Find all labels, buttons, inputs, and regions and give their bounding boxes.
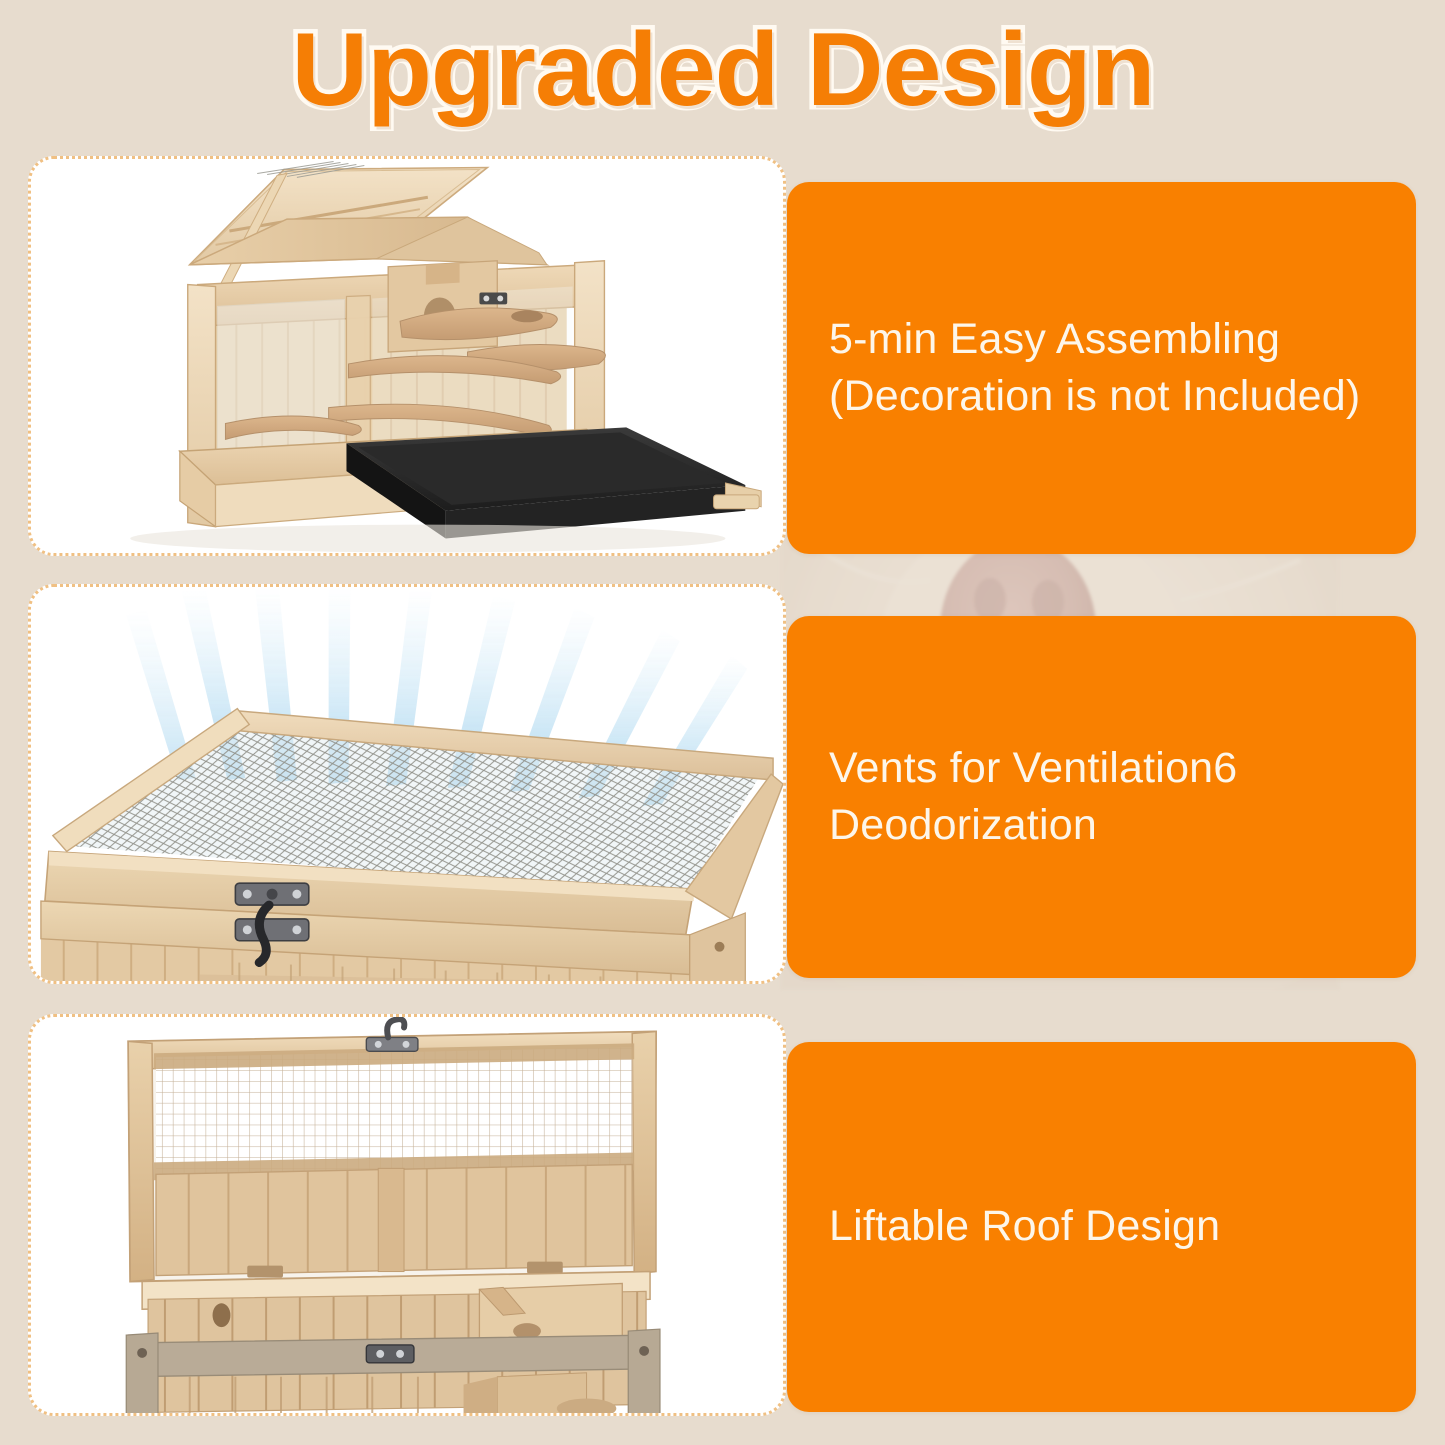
feature-photo-card-1 [28,156,786,556]
infographic-page: Upgraded Design [0,0,1445,1445]
feature-text-3: Liftable Roof Design [787,1198,1260,1255]
feature-text-1: 5-min Easy Assembling (Decoration is not… [787,311,1416,425]
page-title: Upgraded Design [291,16,1154,125]
page-title-container: Upgraded Design [0,16,1445,125]
feature-text-2: Vents for Ventilation6 Deodorization [787,740,1416,854]
feature-text-panel-3: Liftable Roof Design [787,1042,1416,1412]
liftable-roof-illustration [31,1017,783,1413]
feature-photo-card-3 [28,1014,786,1416]
feature-text-panel-1: 5-min Easy Assembling (Decoration is not… [787,182,1416,554]
ventilation-mesh-illustration [31,587,783,981]
feature-text-panel-2: Vents for Ventilation6 Deodorization [787,616,1416,978]
feature-photo-card-2 [28,584,786,984]
cage-assembly-illustration [31,159,783,553]
